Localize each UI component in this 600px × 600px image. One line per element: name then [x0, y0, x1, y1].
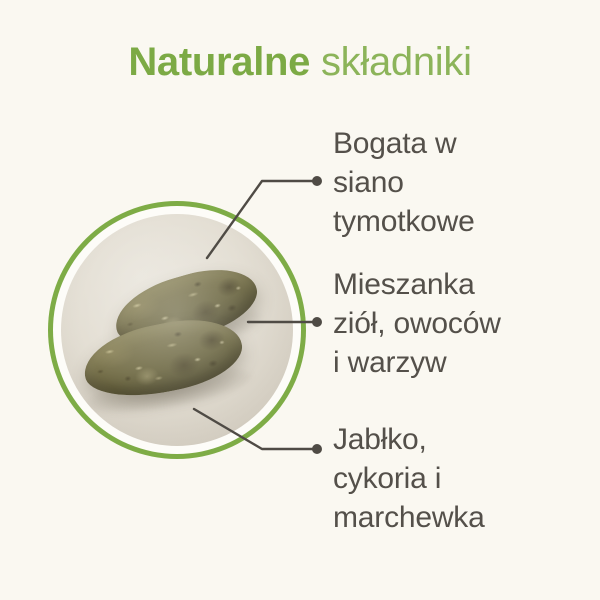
callout-label-mix: Mieszanka ziół, owoców i warzyw — [333, 265, 501, 382]
callout-label-apple: Jabłko, cykoria i marchewka — [333, 420, 485, 537]
callout-label-hay: Bogata w siano tymotkowe — [333, 124, 475, 241]
infographic-canvas: Naturalne składniki Bogata w siano tymot… — [0, 0, 600, 600]
page-title-light: składniki — [321, 40, 472, 84]
page-title-space — [310, 40, 321, 84]
leader-dot-hay — [312, 176, 322, 186]
product-photo — [61, 214, 293, 446]
product-image-inner-ring — [53, 206, 301, 454]
product-image-ring — [48, 201, 306, 459]
photo-vignette — [61, 214, 293, 446]
page-title-strong: Naturalne — [128, 40, 310, 84]
page-title: Naturalne składniki — [0, 38, 600, 86]
leader-dot-mix — [312, 317, 322, 327]
leader-dot-apple — [312, 444, 322, 454]
